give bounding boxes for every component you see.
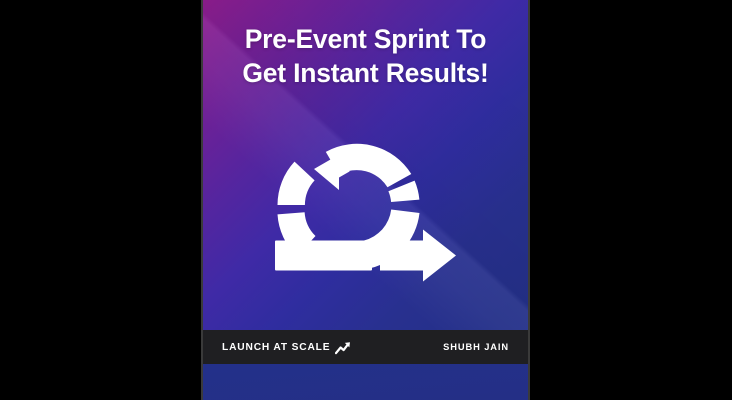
headline-line-1: Pre-Event Sprint To <box>219 22 512 56</box>
slide-lower-strip <box>203 364 528 400</box>
slide-card[interactable]: Pre-Event Sprint To Get Instant Results! <box>201 0 530 400</box>
brand-label: LAUNCH AT SCALE <box>222 342 330 353</box>
sprint-loop-icon <box>263 113 469 291</box>
author-name: SHUBH JAIN <box>443 342 509 352</box>
brand-group[interactable]: LAUNCH AT SCALE <box>222 340 352 355</box>
slide-headline: Pre-Event Sprint To Get Instant Results! <box>203 22 528 91</box>
trending-up-icon <box>335 341 352 355</box>
headline-line-2: Get Instant Results! <box>219 56 512 90</box>
slide-footer-bar: LAUNCH AT SCALE SHUBH JAIN <box>203 330 528 364</box>
screenshot-viewport: Pre-Event Sprint To Get Instant Results! <box>0 0 732 400</box>
